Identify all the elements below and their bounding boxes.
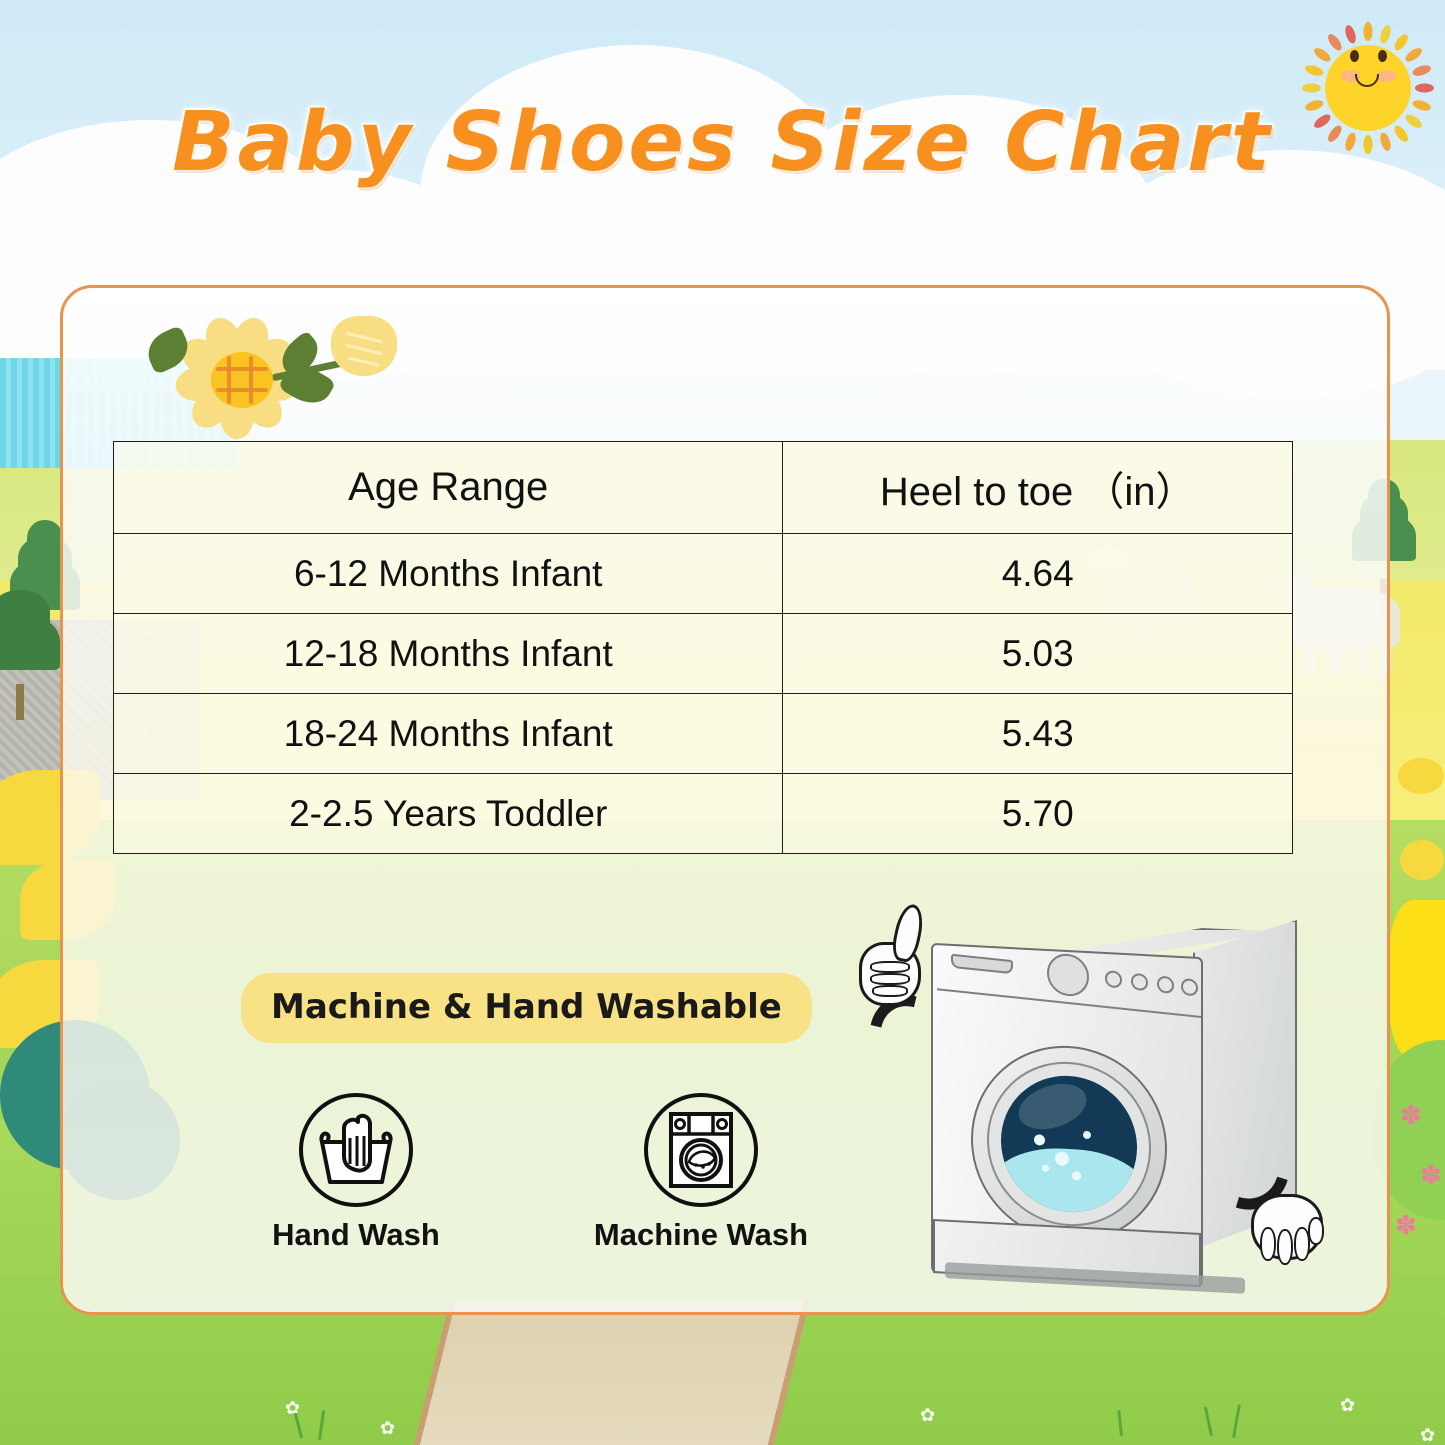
sun-ray: [1304, 63, 1325, 77]
mascot-drum-window: [1001, 1072, 1137, 1215]
wildflower: ✿: [920, 1405, 935, 1426]
sun-eye: [1378, 50, 1387, 62]
flower-bud: [331, 316, 397, 376]
sun-eye: [1350, 50, 1359, 62]
sun-ray: [1392, 32, 1410, 53]
indicator-light: [1105, 970, 1122, 989]
cell-age-range: 12-18 Months Infant: [114, 614, 783, 694]
pine-tree: [0, 600, 60, 720]
wildflower: ✿: [1340, 1395, 1355, 1416]
sunflower-grid: [216, 367, 268, 371]
pink-flower: ✽: [1400, 1100, 1422, 1131]
sunflower-center: [211, 352, 273, 408]
glass-reflection: [1012, 1076, 1093, 1138]
pink-flower: ✽: [1395, 1210, 1417, 1241]
hand-wash-label: Hand Wash: [241, 1217, 471, 1253]
bubble: [1034, 1134, 1045, 1146]
bubble: [1083, 1131, 1091, 1139]
cell-age-range: 18-24 Months Infant: [114, 694, 783, 774]
mascot-finger: [1308, 1217, 1324, 1245]
page-title: Baby Shoes Size Chart: [0, 95, 1445, 190]
table-header-row: Age Range Heel to toe （in）: [114, 442, 1293, 534]
sunflower-grid: [216, 388, 268, 392]
cell-heel-to-toe: 5.43: [783, 694, 1293, 774]
sun-ray: [1403, 46, 1424, 64]
dirt-path: [410, 1300, 810, 1445]
hand-in-basin-glyph: [314, 1112, 398, 1188]
mascot-finger: [1277, 1229, 1293, 1265]
wildflower: ✿: [1420, 1425, 1435, 1445]
mascot-finger: [872, 985, 908, 997]
sun-ray: [1415, 84, 1434, 93]
bud-line: [347, 356, 379, 367]
machine-wash-item: Machine Wash: [586, 1093, 816, 1253]
mascot-finger: [1260, 1227, 1276, 1261]
wildflower: ✿: [285, 1398, 300, 1419]
mascot-finger: [870, 961, 910, 973]
indicator-light: [1157, 975, 1174, 994]
detergent-drawer: [951, 954, 1013, 974]
table-row: 2-2.5 Years Toddler 5.70: [114, 774, 1293, 854]
bud-line: [345, 343, 383, 355]
hand-wash-icon: [299, 1093, 413, 1207]
column-header-age-range: Age Range: [114, 442, 783, 534]
machine-wash-label: Machine Wash: [586, 1217, 816, 1253]
bud-line: [345, 331, 383, 343]
indicator-light: [1131, 973, 1148, 992]
info-card: (function(){ var p = document.currentScr…: [60, 285, 1390, 1315]
sun-ray: [1343, 24, 1357, 45]
cell-heel-to-toe: 5.03: [783, 614, 1293, 694]
washable-banner: Machine & Hand Washable: [241, 973, 812, 1043]
table-row: 6-12 Months Infant 4.64: [114, 534, 1293, 614]
mascot-thumb: [889, 902, 926, 964]
hand-wash-item: Hand Wash: [241, 1093, 471, 1253]
drum-water: [1001, 1145, 1137, 1215]
sun-ray: [1378, 24, 1392, 45]
yellow-butterfly: [1398, 758, 1444, 794]
mascot-finger: [870, 973, 910, 985]
mascot-door-inner-ring: [987, 1058, 1151, 1231]
yellow-butterfly: [1400, 840, 1444, 880]
program-dial: [1047, 952, 1089, 998]
sun-cheek: [1377, 70, 1396, 82]
cell-age-range: 2-2.5 Years Toddler: [114, 774, 783, 854]
washing-machine-mascot-icon: [853, 898, 1353, 1315]
wildflower: ✿: [380, 1418, 395, 1439]
size-chart-table: Age Range Heel to toe （in） 6-12 Months I…: [113, 441, 1293, 854]
sun-ray: [1312, 46, 1333, 64]
table-row: 18-24 Months Infant 5.43: [114, 694, 1293, 774]
bubble: [1072, 1171, 1081, 1180]
yellow-patch: [1390, 900, 1445, 1060]
machine-wash-icon: [644, 1093, 758, 1207]
wash-care-icons: Hand Wash Machine W: [241, 1093, 861, 1303]
pink-flower: ✽: [1420, 1160, 1442, 1191]
sunflower-grid: [249, 356, 253, 404]
sunflower-grid: [227, 356, 231, 404]
sun-ray: [1364, 22, 1373, 41]
sun-ray: [1302, 84, 1321, 93]
sunflower-sprig-icon: (function(){ var p = document.currentScr…: [133, 302, 398, 417]
mascot-right-hand: [1251, 1194, 1323, 1260]
indicator-light: [1181, 978, 1198, 997]
column-header-heel-to-toe: Heel to toe （in）: [783, 442, 1293, 534]
table-row: 12-18 Months Infant 5.03: [114, 614, 1293, 694]
washing-machine-glyph: [665, 1110, 737, 1190]
sun-ray: [1411, 63, 1432, 77]
bubble: [1042, 1164, 1049, 1171]
cell-heel-to-toe: 5.70: [783, 774, 1293, 854]
sun-ray: [1326, 32, 1344, 53]
cell-age-range: 6-12 Months Infant: [114, 534, 783, 614]
cell-heel-to-toe: 4.64: [783, 534, 1293, 614]
